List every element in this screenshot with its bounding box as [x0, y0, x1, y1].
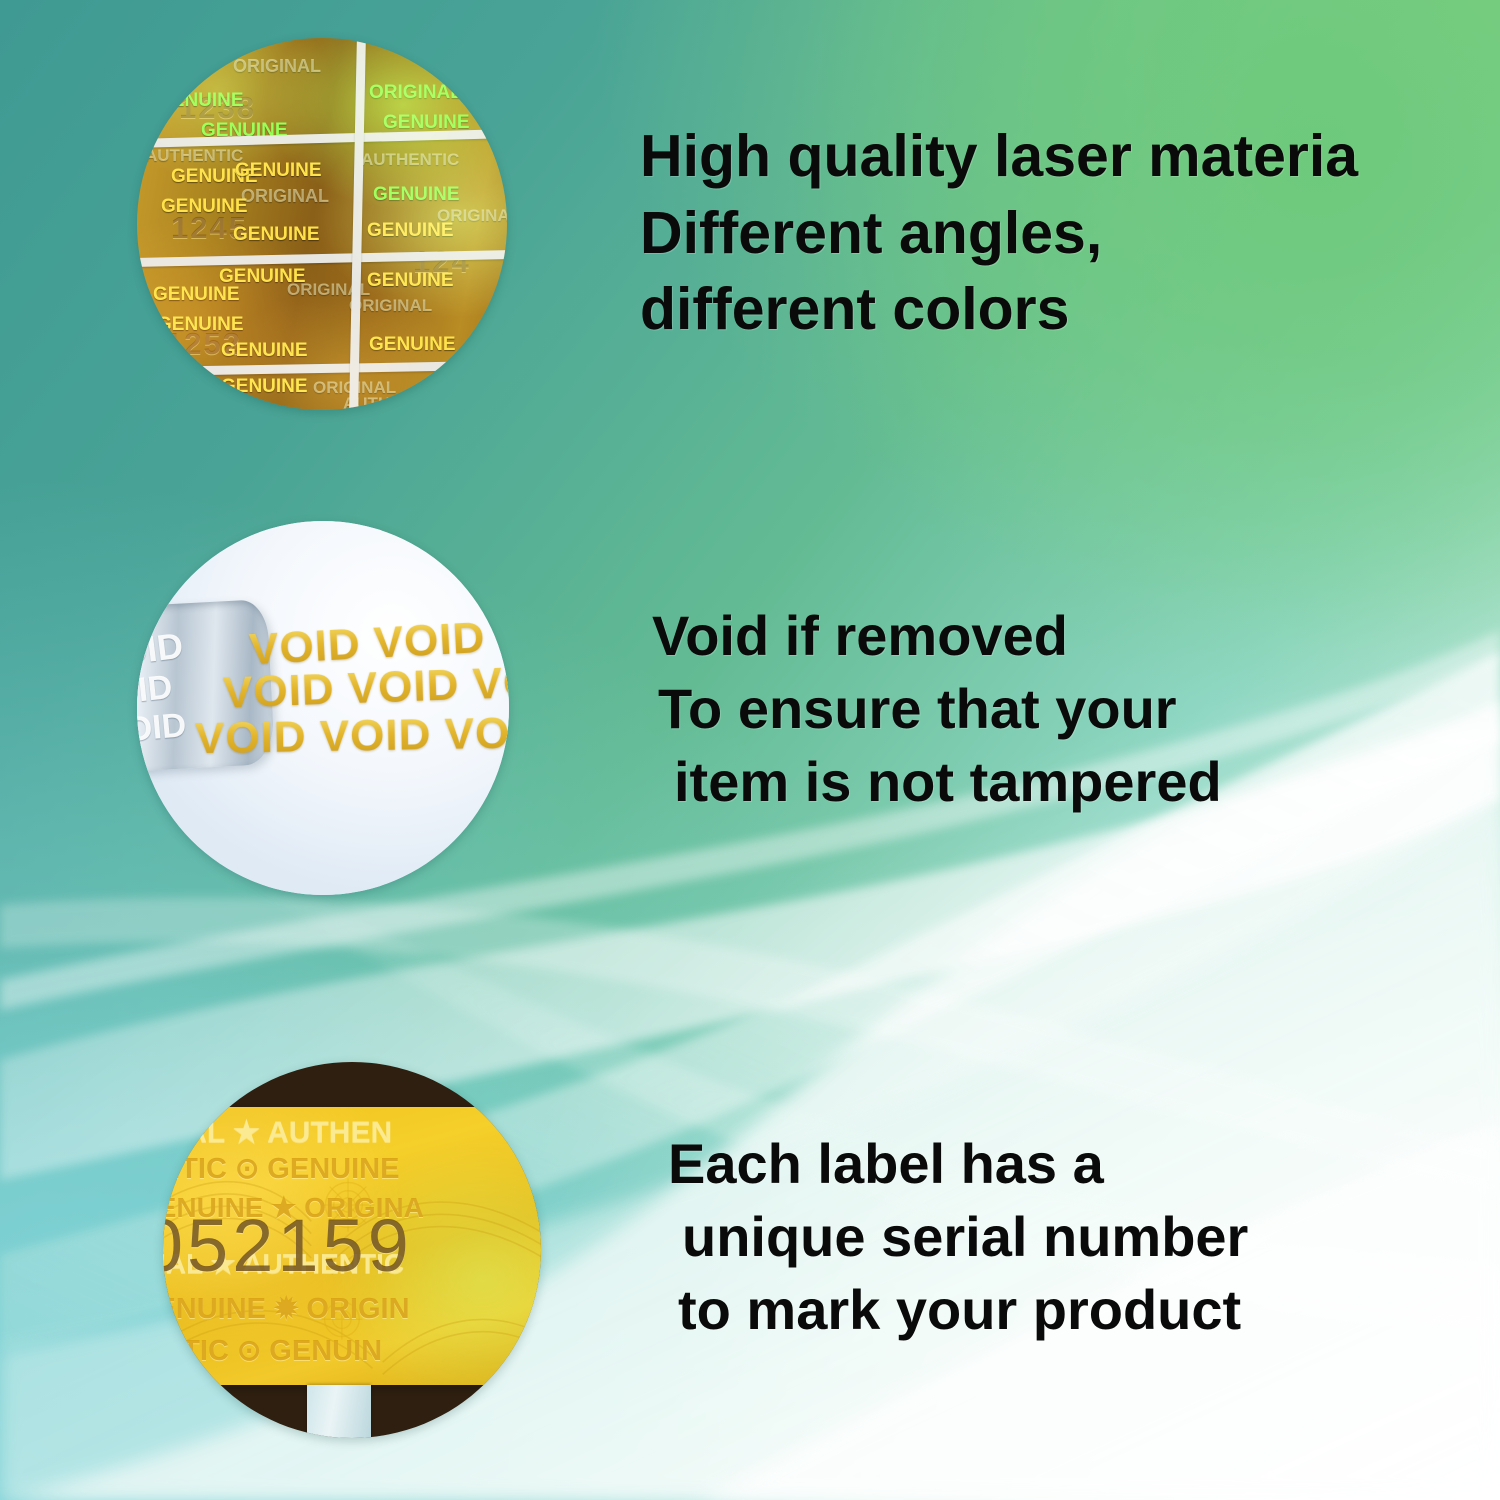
gold-hologram-sticker: GINAL ★ AUTHEN ENTIC ⊙ GENUINE GENUINE ★…: [163, 1107, 541, 1385]
feature-text-void-if-removed: Void if removed To ensure that your item…: [652, 600, 1222, 818]
void-line-2: To ensure that your: [652, 673, 1222, 746]
hologram-label-sheet-photo: 1238 1245 1252 124 ORIGINAL GENUINE GENU…: [137, 38, 507, 410]
serial-row-5: GENUINE ✹ ORIGIN: [163, 1291, 410, 1326]
serial-number-label-photo: GINAL ★ AUTHEN ENTIC ⊙ GENUINE GENUINE ★…: [163, 1062, 541, 1438]
void-tape-photo: VOID VOID VOID VOID VOID VO VOID VOID VO…: [137, 521, 509, 895]
laser-line-2: Different angles,: [640, 195, 1358, 272]
void-row-3: VOID VOID VOID: [195, 708, 509, 764]
serial-row-2: ENTIC ⊙ GENUINE: [163, 1151, 399, 1186]
feature-text-unique-serial: Each label has a unique serial number to…: [668, 1128, 1248, 1346]
serial-row-6: ENTIC ⊙ GENUIN: [163, 1333, 382, 1368]
curl-void-3: VOID: [137, 706, 188, 752]
serial-line-2: unique serial number: [668, 1201, 1248, 1274]
laser-line-1: High quality laser materia: [640, 118, 1358, 195]
void-line-1: Void if removed: [652, 600, 1222, 673]
label-pull-tab: [307, 1385, 371, 1438]
infographic-canvas: 1238 1245 1252 124 ORIGINAL GENUINE GENU…: [0, 0, 1500, 1500]
laser-line-3: different colors: [640, 271, 1358, 348]
serial-line-3: to mark your product: [668, 1274, 1248, 1347]
label-serial-number: 052159: [163, 1203, 413, 1288]
hologram-rainbow-sheen: [137, 38, 507, 410]
void-line-3: item is not tampered: [652, 746, 1222, 819]
feature-text-laser-material: High quality laser materia Different ang…: [640, 118, 1358, 348]
serial-line-1: Each label has a: [668, 1128, 1248, 1201]
serial-row-1: GINAL ★ AUTHEN: [163, 1115, 392, 1150]
